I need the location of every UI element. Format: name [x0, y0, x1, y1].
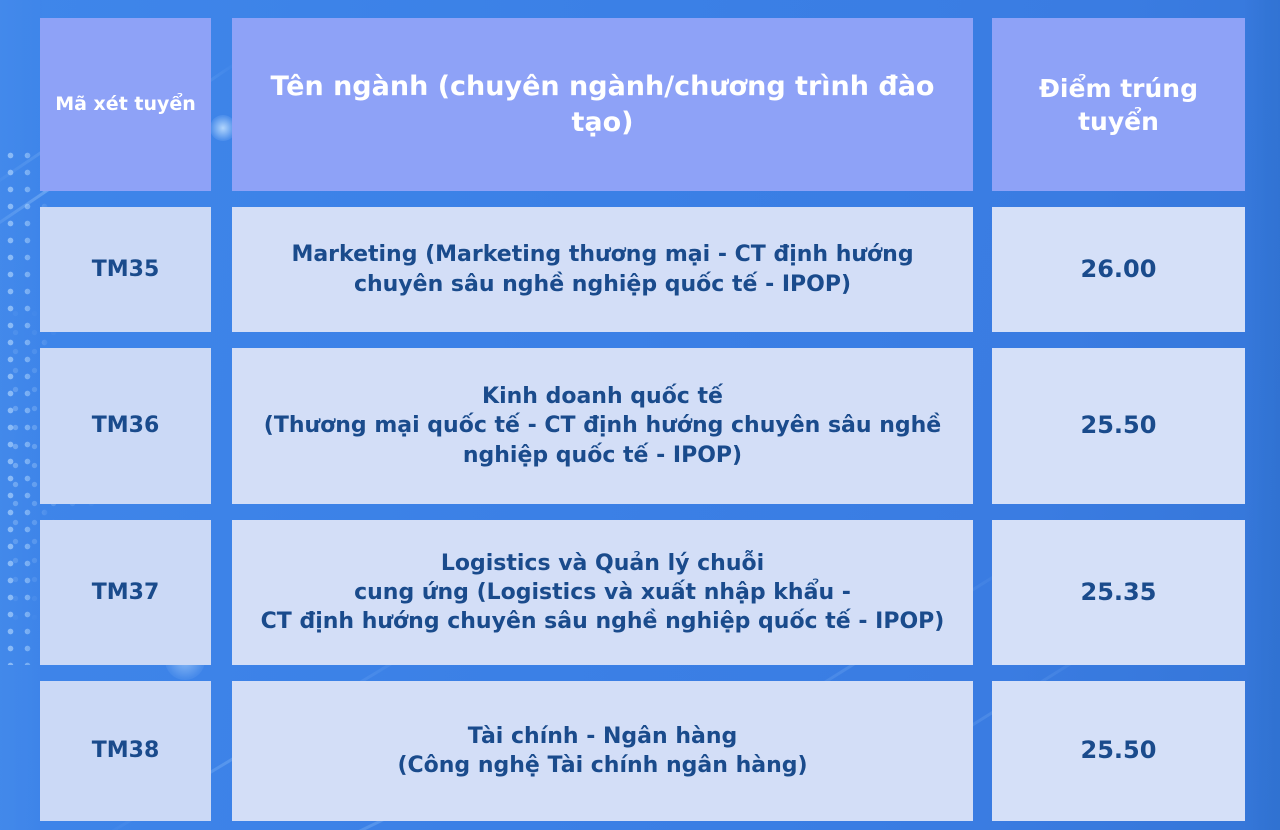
score-table: Mã xét tuyển Tên ngành (chuyên ngành/chư… — [0, 0, 1280, 830]
table-row-name: Kinh doanh quốc tế (Thương mại quốc tế -… — [232, 348, 973, 504]
column-header-code-line-1: Mã — [55, 93, 87, 115]
table-row-name: Tài chính - Ngân hàng (Công nghệ Tài chí… — [232, 681, 973, 821]
row-name-line: (Công nghệ Tài chính ngân hàng) — [397, 751, 807, 780]
row-code-value: TM35 — [92, 255, 160, 284]
row-score-value: 26.00 — [1081, 254, 1157, 286]
table-row-code: TM36 — [40, 348, 211, 504]
table-row-code: TM35 — [40, 207, 211, 332]
table-row-score: 25.50 — [992, 681, 1245, 821]
row-score-value: 25.50 — [1081, 735, 1157, 767]
table-row-code: TM37 — [40, 520, 211, 665]
row-name-line: Kinh doanh quốc tế — [264, 382, 941, 411]
column-header-score-line-1: Điểm — [1039, 74, 1112, 103]
table-row-name: Marketing (Marketing thương mại - CT địn… — [232, 207, 973, 332]
table-row-code: TM38 — [40, 681, 211, 821]
table-row-score: 26.00 — [992, 207, 1245, 332]
row-code-value: TM36 — [92, 411, 160, 440]
column-header-major-name-label: Tên ngành (chuyên ngành/chương trình đào… — [246, 69, 959, 140]
row-name-line: Tài chính - Ngân hàng — [397, 722, 807, 751]
table-row-score: 25.35 — [992, 520, 1245, 665]
row-code-value: TM38 — [92, 736, 160, 765]
row-name-line: nghiệp quốc tế - IPOP) — [264, 441, 941, 470]
row-name-line: chuyên sâu nghề nghiệp quốc tế - IPOP) — [291, 270, 913, 299]
row-name-line: Logistics và Quản lý chuỗi — [261, 549, 945, 578]
column-header-code-line-2: xét tuyển — [94, 93, 196, 115]
column-header-code: Mã xét tuyển — [40, 18, 211, 191]
row-score-value: 25.35 — [1081, 577, 1157, 609]
row-score-value: 25.50 — [1081, 410, 1157, 442]
row-code-value: TM37 — [92, 578, 160, 607]
row-name-line: (Thương mại quốc tế - CT định hướng chuy… — [264, 411, 941, 440]
column-header-score: Điểm trúng tuyển — [992, 18, 1245, 191]
table-row-name: Logistics và Quản lý chuỗi cung ứng (Log… — [232, 520, 973, 665]
table-row-score: 25.50 — [992, 348, 1245, 504]
admission-score-table-page: Mã xét tuyển Tên ngành (chuyên ngành/chư… — [0, 0, 1280, 830]
column-header-major-name: Tên ngành (chuyên ngành/chương trình đào… — [232, 18, 973, 191]
row-name-line: cung ứng (Logistics và xuất nhập khẩu - — [261, 578, 945, 607]
row-name-line: CT định hướng chuyên sâu nghề nghiệp quố… — [261, 607, 945, 636]
row-name-line: Marketing (Marketing thương mại - CT địn… — [291, 240, 913, 269]
